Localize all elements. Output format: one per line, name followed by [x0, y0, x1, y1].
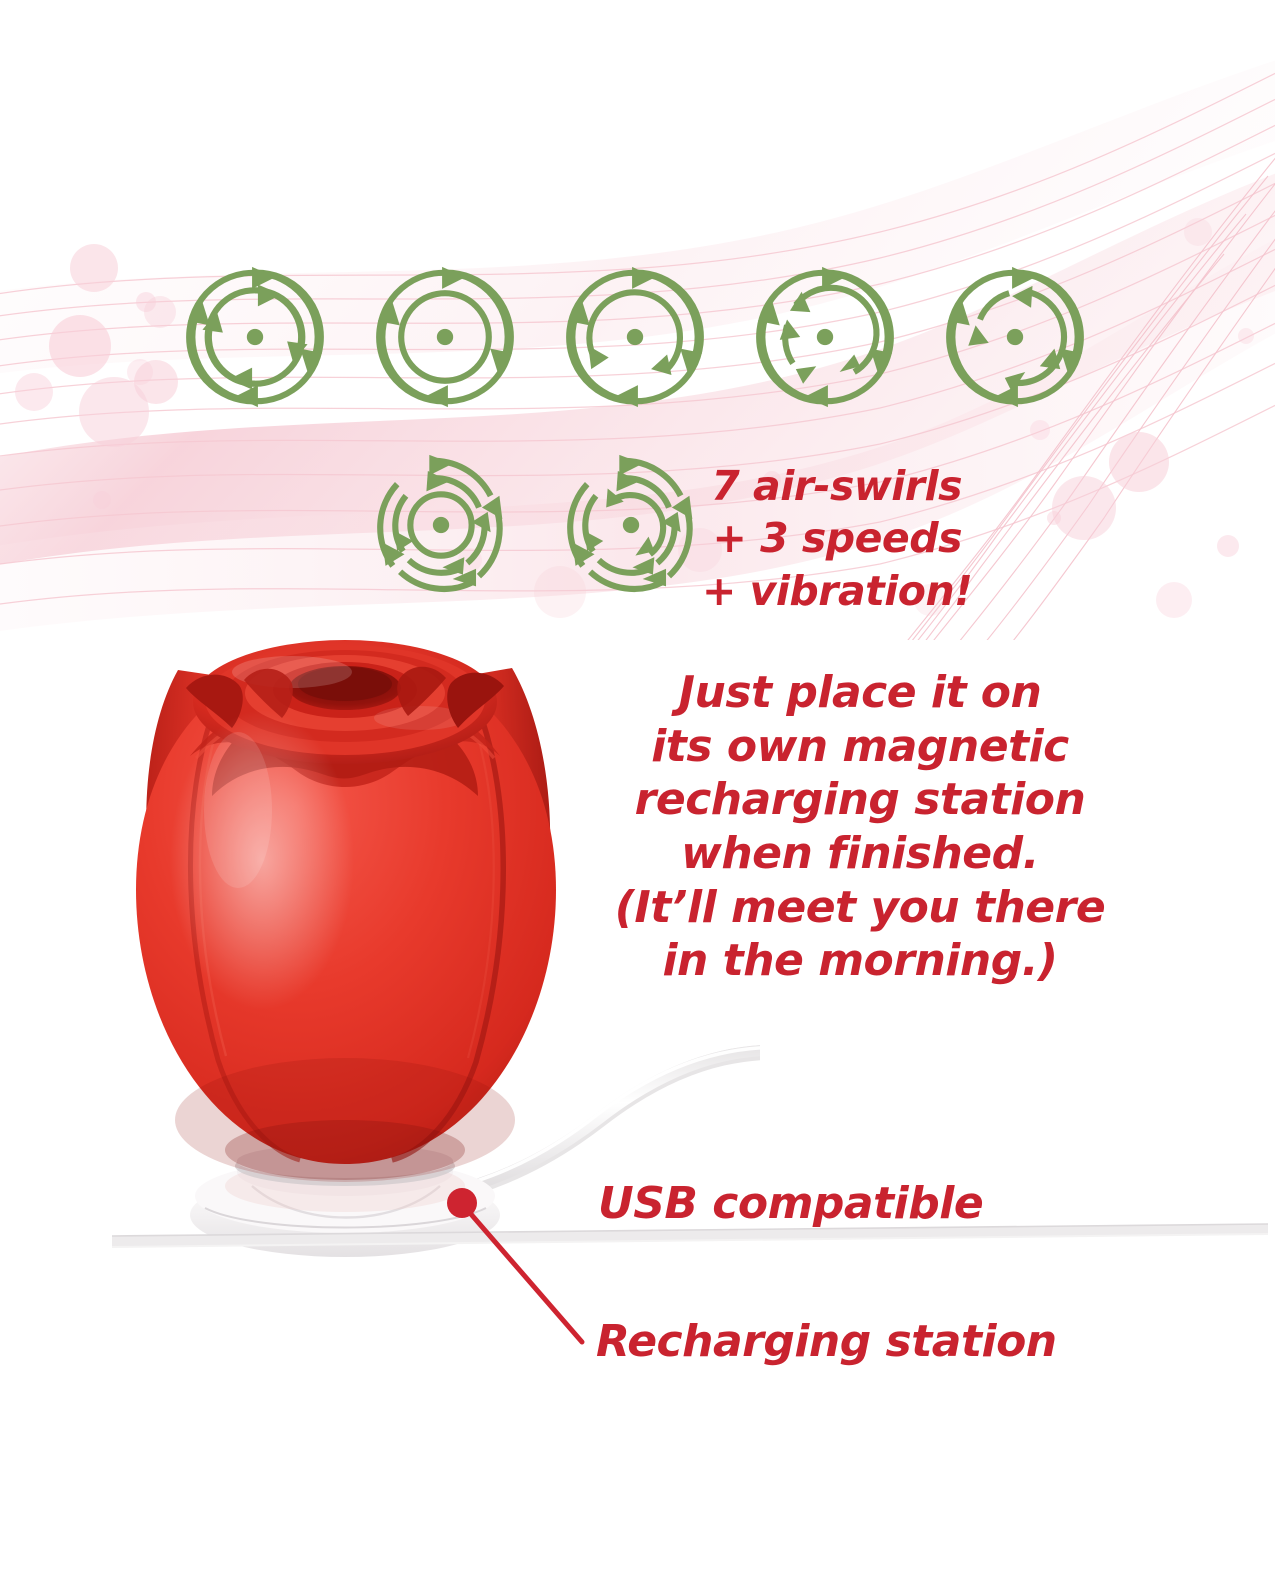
blurb-line-5: (It’ll meet you there — [600, 881, 1120, 935]
blurb-line-6: in the morning.) — [600, 934, 1120, 988]
recharge-blurb: Just place it on its own magnetic rechar… — [600, 666, 1120, 988]
recharging-station-label: Recharging station — [596, 1316, 1057, 1368]
blurb-line-1: Just place it on — [600, 666, 1120, 720]
infographic-canvas: 7 air-swirls + 3 speeds + vibration! — [0, 0, 1275, 1575]
blurb-line-3: recharging station — [600, 773, 1120, 827]
usb-compatible-label: USB compatible — [598, 1178, 983, 1230]
blurb-line-2: its own magnetic — [600, 720, 1120, 774]
blurb-line-4: when finished. — [600, 827, 1120, 881]
